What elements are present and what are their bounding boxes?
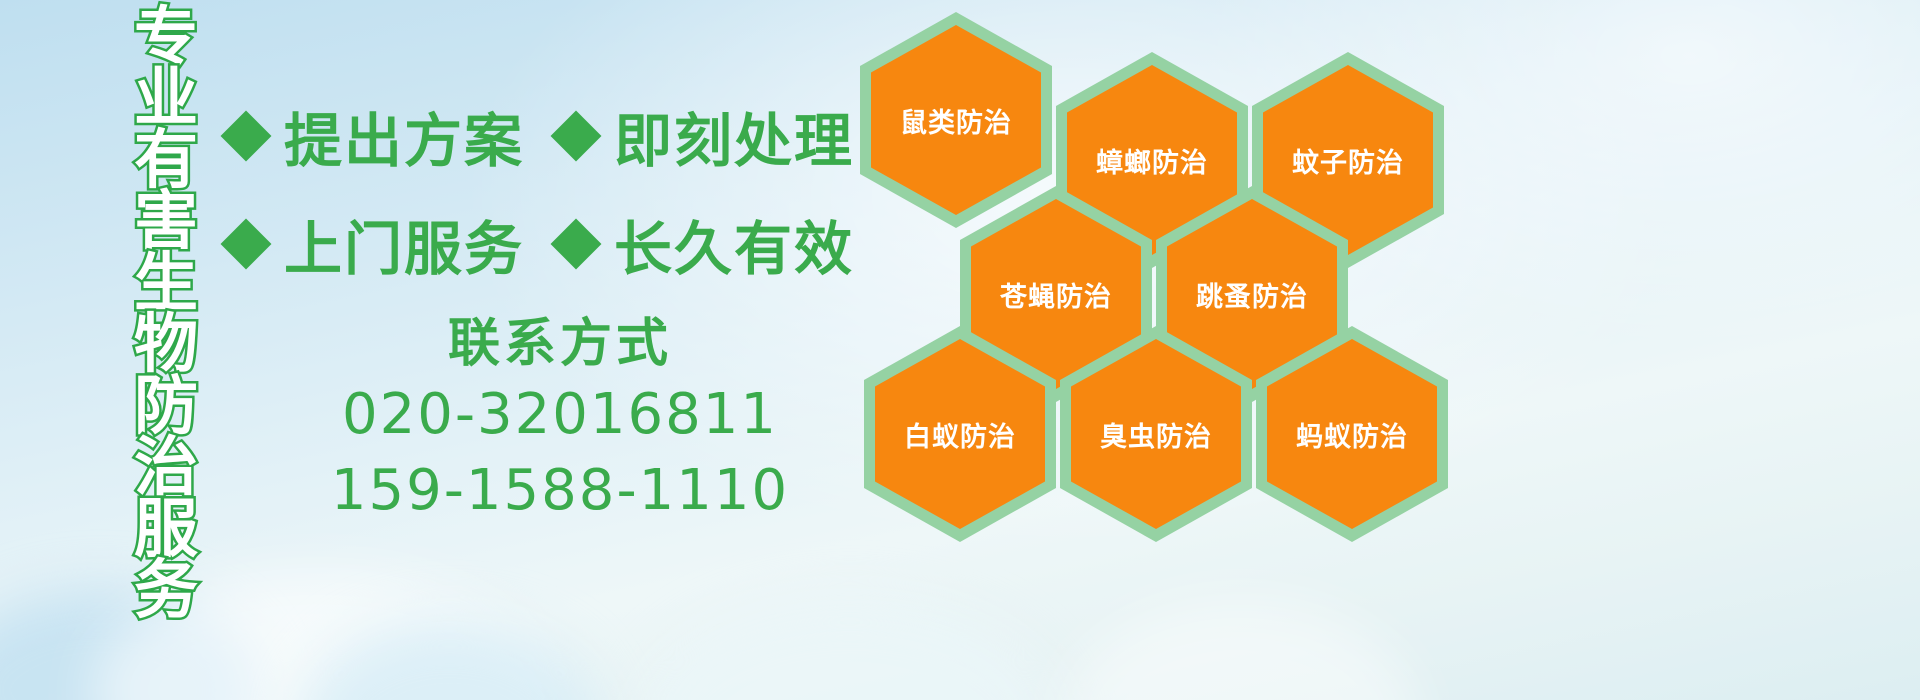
hexagon-inner: 白蚁防治 (875, 339, 1045, 529)
feature-row: 提出方案 即刻处理 (228, 82, 868, 190)
service-label: 鼠类防治 (900, 101, 1012, 140)
feature-row: 上门服务 长久有效 (228, 190, 868, 298)
hexagon-inner: 蚂蚁防治 (1267, 339, 1437, 529)
feature-list: 提出方案 即刻处理 上门服务 长久有效 (228, 82, 868, 298)
phone-number-landline[interactable]: 020-32016811 (300, 377, 820, 453)
vertical-headline-char: 业 (134, 69, 198, 130)
hexagon-inner: 臭虫防治 (1071, 339, 1241, 529)
service-label: 臭虫防治 (1100, 415, 1212, 454)
feature-item: 长久有效 (558, 202, 854, 286)
decorative-blob (640, 600, 1060, 700)
hexagon-shape: 臭虫防治 (1060, 326, 1252, 542)
phone-number-mobile[interactable]: 159-1588-1110 (300, 453, 820, 529)
decorative-blob (1060, 600, 1420, 700)
vertical-headline-char: 有 (134, 131, 198, 192)
vertical-headline-char: 生 (134, 254, 198, 315)
feature-label: 上门服务 (284, 202, 524, 286)
vertical-headline-char: 害 (134, 192, 198, 253)
hexagon-shape: 蚂蚁防治 (1256, 326, 1448, 542)
hexagon-shape: 白蚁防治 (864, 326, 1056, 542)
feature-label: 提出方案 (284, 94, 524, 178)
service-label: 蚊子防治 (1292, 141, 1404, 180)
service-label: 蚂蚁防治 (1296, 415, 1408, 454)
vertical-headline-char: 治 (134, 438, 198, 499)
vertical-headline-char: 服 (134, 500, 198, 561)
feature-item: 提出方案 (228, 94, 524, 178)
service-hex-bedbug[interactable]: 臭虫防治 (1060, 326, 1252, 542)
service-hex-termite[interactable]: 白蚁防治 (864, 326, 1056, 542)
vertical-headline-char: 专 (134, 8, 198, 69)
service-label: 苍蝇防治 (1000, 275, 1112, 314)
diamond-icon (551, 111, 602, 162)
feature-label: 即刻处理 (614, 94, 854, 178)
contact-title: 联系方式 (300, 312, 820, 377)
diamond-icon (221, 111, 272, 162)
service-hex-ant[interactable]: 蚂蚁防治 (1256, 326, 1448, 542)
service-label: 跳蚤防治 (1196, 275, 1308, 314)
vertical-headline-char: 务 (134, 561, 198, 622)
diamond-icon (221, 219, 272, 270)
promo-banner: 专 业 有 害 生 物 防 治 服 务 提出方案 即刻处理 上门服务 (0, 0, 1920, 700)
vertical-headline-char: 防 (134, 377, 198, 438)
service-label: 白蚁防治 (904, 415, 1016, 454)
contact-block: 联系方式 020-32016811 159-1588-1110 (300, 312, 820, 528)
diamond-icon (551, 219, 602, 270)
feature-item: 即刻处理 (558, 94, 854, 178)
service-label: 蟑螂防治 (1096, 141, 1208, 180)
feature-label: 长久有效 (614, 202, 854, 286)
feature-item: 上门服务 (228, 202, 524, 286)
decorative-blob (300, 620, 600, 700)
vertical-headline: 专 业 有 害 生 物 防 治 服 务 (106, 8, 226, 568)
service-honeycomb: 鼠类防治 蟑螂防治 蚊子防治 苍蝇防治 (860, 4, 1460, 564)
decorative-blob (0, 590, 260, 700)
vertical-headline-char: 物 (134, 315, 198, 376)
